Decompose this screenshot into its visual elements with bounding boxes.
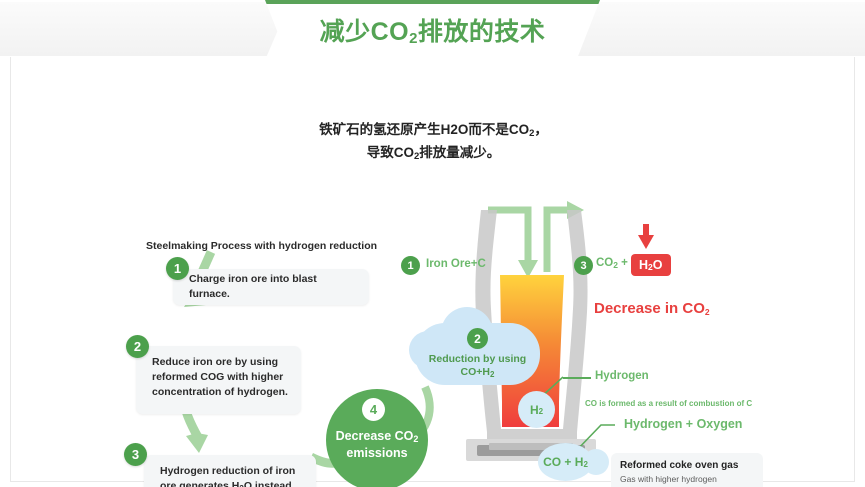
label-co2-sub: 2 bbox=[613, 260, 618, 270]
slide-root: 减少CO2排放的技术 铁矿石的氢还原产生H2O而不是CO2， 导致CO2排放量减… bbox=[0, 0, 865, 487]
bubble-co-h2-a: CO + H bbox=[543, 455, 583, 469]
label-hydrogen: Hydrogen bbox=[595, 370, 649, 382]
header-ribbon: 减少CO2排放的技术 bbox=[0, 0, 865, 62]
step-badge-2: 2 bbox=[126, 335, 149, 358]
step-badge-4: 4 bbox=[362, 398, 385, 421]
slide-body: 铁矿石的氢还原产生H2O而不是CO2， 导致CO2排放量减少。 bbox=[10, 57, 855, 482]
ribbon-right-wing bbox=[575, 2, 865, 56]
bubble-co-h2: CO + H2 bbox=[538, 443, 593, 481]
subtitle-line-1-b: ， bbox=[534, 122, 548, 137]
h2o-b: O bbox=[653, 258, 663, 272]
summary-line-2: emissions bbox=[346, 445, 407, 461]
step-card-3[interactable]: Hydrogen reduction of iron ore generates… bbox=[144, 455, 316, 487]
subtitle-line-2-a: 导致CO bbox=[367, 145, 414, 160]
page-title-tail: 排放的技术 bbox=[418, 18, 546, 46]
cloud-line-2-a: CO+H bbox=[461, 366, 490, 378]
label-hydrogen-oxygen: Hydrogen + Oxygen bbox=[624, 417, 742, 431]
subtitle-line-1-sub: 2 bbox=[529, 128, 534, 139]
ribbon-left-wing bbox=[0, 2, 290, 56]
step-card-1[interactable]: Charge iron ore into blast furnace. bbox=[173, 269, 369, 305]
subtitle-line-1: 铁矿石的氢还原产生H2O而不是CO2， bbox=[11, 119, 856, 142]
diagram-step-badge-3: 3 bbox=[574, 256, 593, 275]
label-co2-a: CO bbox=[596, 257, 613, 269]
subtitle-line-1-a: 铁矿石的氢还原产生H2O而不是CO bbox=[319, 122, 529, 137]
bubble-h2-sub: 2 bbox=[539, 407, 543, 416]
label-decrease-co2: Decrease in CO2 bbox=[594, 300, 710, 317]
page-title: 减少CO2排放的技术 bbox=[320, 20, 546, 45]
left-panel-heading: Steelmaking Process with hydrogen reduct… bbox=[146, 240, 377, 252]
leader-line-hydrogen bbox=[563, 377, 591, 379]
reformed-box-title: Reformed coke oven gas bbox=[620, 460, 754, 471]
cloud-line-1: Reduction by using bbox=[429, 353, 526, 366]
subtitle-block: 铁矿石的氢还原产生H2O而不是CO2， 导致CO2排放量减少。 bbox=[11, 119, 856, 165]
decrease-co2-sub: 2 bbox=[705, 307, 710, 317]
step-badge-3: 3 bbox=[124, 443, 147, 466]
h2o-a: H bbox=[639, 258, 648, 272]
step-card-1-text: Charge iron ore into blast furnace. bbox=[189, 272, 357, 302]
step-card-2-text: Reduce iron ore by using reformed COG wi… bbox=[152, 356, 288, 398]
subtitle-line-2-b: 排放量减少。 bbox=[419, 145, 500, 160]
subtitle-line-2: 导致CO2排放量减少。 bbox=[11, 142, 856, 165]
reformed-box-body: Gas with higher hydrogen concentration b… bbox=[620, 474, 754, 487]
label-iron-ore: Iron Ore+C bbox=[426, 258, 486, 270]
cloud-line-2-sub: 2 bbox=[490, 370, 494, 379]
page-title-subscript: 2 bbox=[409, 30, 418, 47]
summary-line-1: Decrease CO2 bbox=[336, 428, 419, 445]
bubble-h2: H2 bbox=[518, 391, 555, 428]
step-badge-1: 1 bbox=[166, 257, 189, 280]
h2o-badge: H2O bbox=[631, 254, 671, 276]
ribbon-center-panel: 减少CO2排放的技术 bbox=[265, 0, 600, 60]
h2o-sub: 2 bbox=[648, 262, 653, 272]
bubble-h2-a: H bbox=[530, 403, 539, 417]
bubble-co-h2-sub: 2 bbox=[583, 460, 587, 469]
label-co2-b: + bbox=[618, 257, 628, 269]
diagram-step-badge-2: 2 bbox=[467, 328, 488, 349]
decrease-co2-a: Decrease in CO bbox=[594, 300, 705, 317]
label-co-formed: CO is formed as a result of combustion o… bbox=[585, 399, 752, 408]
diagram-step-badge-1: 1 bbox=[401, 256, 420, 275]
page-title-main: 减少CO bbox=[320, 18, 410, 46]
summary-line-1-a: Decrease CO bbox=[336, 429, 414, 443]
label-co2-plus: CO2 + bbox=[596, 257, 628, 269]
summary-line-1-sub: 2 bbox=[413, 434, 418, 444]
cloud-line-2: CO+H2 bbox=[461, 366, 495, 379]
step-card-2[interactable]: Reduce iron ore by using reformed COG wi… bbox=[136, 346, 301, 414]
subtitle-line-2-sub: 2 bbox=[414, 151, 419, 162]
reformed-coke-oven-gas-box[interactable]: Reformed coke oven gas Gas with higher h… bbox=[611, 453, 763, 487]
